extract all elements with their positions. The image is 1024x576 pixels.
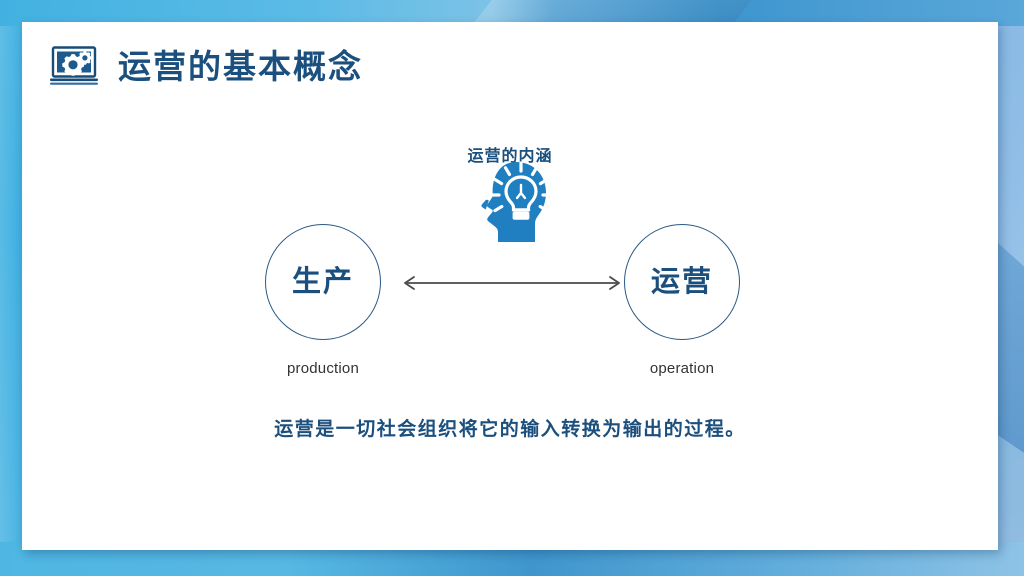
- slide-title-row: 运营的基本概念: [50, 46, 363, 86]
- node-production-caption: production: [243, 360, 403, 377]
- node-operation-circle: 运营: [624, 224, 740, 340]
- content-card: 运营的基本概念 运营的内涵 生产 production: [22, 22, 998, 550]
- node-production-circle: 生产: [265, 224, 381, 340]
- node-production-label: 生产: [292, 268, 354, 297]
- monitor-gear-icon: [50, 46, 102, 86]
- diagram-area: 运营的内涵 生产 production: [22, 142, 998, 394]
- slide-root: 运营的基本概念 运营的内涵 生产 production: [0, 0, 1024, 576]
- head-lightbulb-icon: [466, 156, 558, 248]
- node-operation-caption: operation: [602, 360, 762, 377]
- node-operation-label: 运营: [651, 268, 713, 297]
- double-headed-arrow-icon: [397, 274, 627, 292]
- footnote-text: 运营是一切社会组织将它的输入转换为输出的过程。: [22, 414, 998, 441]
- page-title: 运营的基本概念: [118, 50, 363, 83]
- diagram-row: 生产 production: [22, 194, 998, 394]
